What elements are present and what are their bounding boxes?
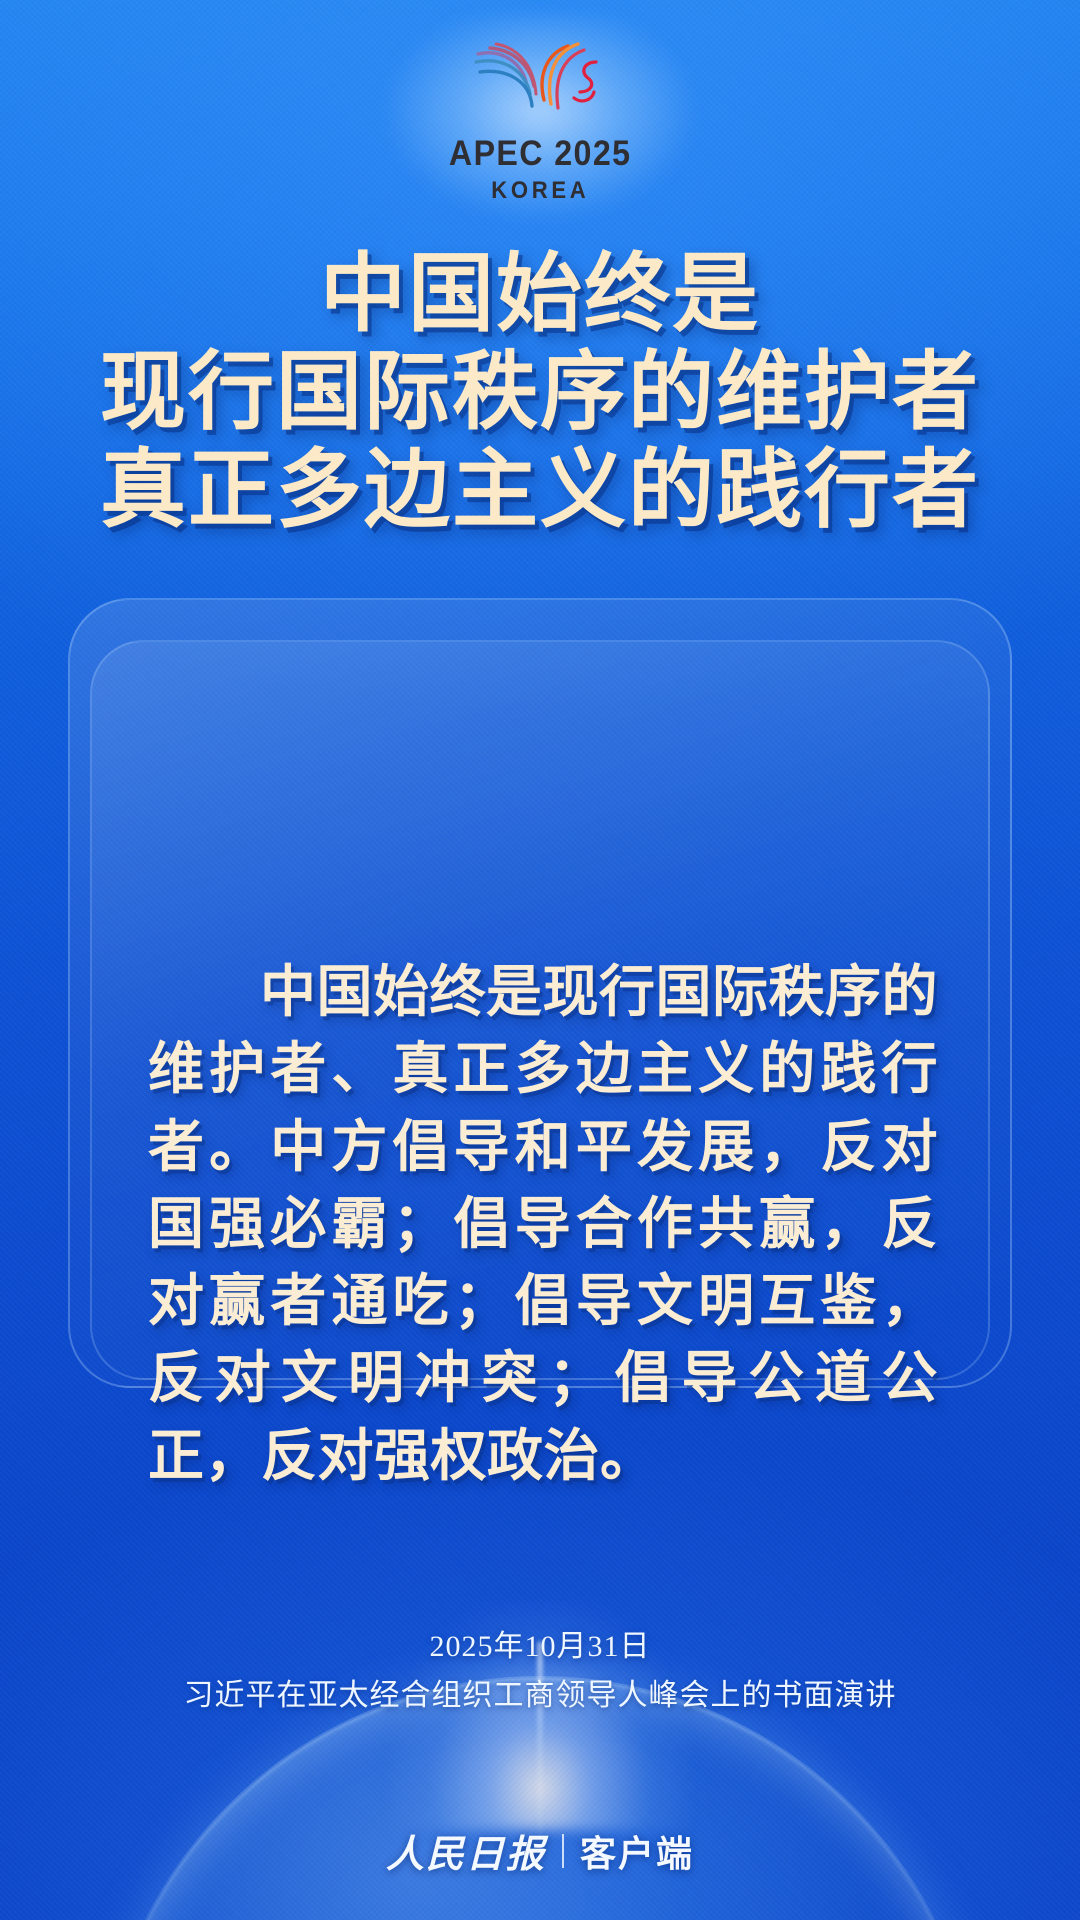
quote-body-text: 中国始终是现行国际秩序的维护者、真正多边主义的践行者。中方倡导和平发展，反对国强…: [148, 955, 938, 1496]
apec-emblem-icon: [456, 24, 624, 134]
speech-date: 2025年10月31日: [0, 1625, 1080, 1669]
headline-line-2: 现行国际秩序的维护者: [0, 343, 1080, 441]
poster-headline: 中国始终是 现行国际秩序的维护者 真正多边主义的践行者: [0, 245, 1080, 539]
apec-logo: APEC 2025 KOREA: [0, 24, 1080, 203]
poster-canvas: APEC 2025 KOREA 中国始终是 现行国际秩序的维护者 真正多边主义的…: [0, 0, 1080, 1920]
brand-name: 人民日报: [386, 1823, 546, 1878]
headline-line-1: 中国始终是: [0, 245, 1080, 343]
speech-meta: 2025年10月31日 习近平在亚太经合组织工商领导人峰会上的书面演讲: [0, 1625, 1080, 1719]
logo-title: APEC 2025: [449, 136, 631, 171]
brand-subtitle: 客户端: [580, 1825, 694, 1877]
speech-description: 习近平在亚太经合组织工商领导人峰会上的书面演讲: [0, 1673, 1080, 1720]
brand-divider: [562, 1834, 564, 1868]
publisher-brand: 人民日报 客户端: [0, 1823, 1080, 1878]
logo-subtitle: KOREA: [491, 179, 589, 203]
headline-line-3: 真正多边主义的践行者: [0, 441, 1080, 539]
